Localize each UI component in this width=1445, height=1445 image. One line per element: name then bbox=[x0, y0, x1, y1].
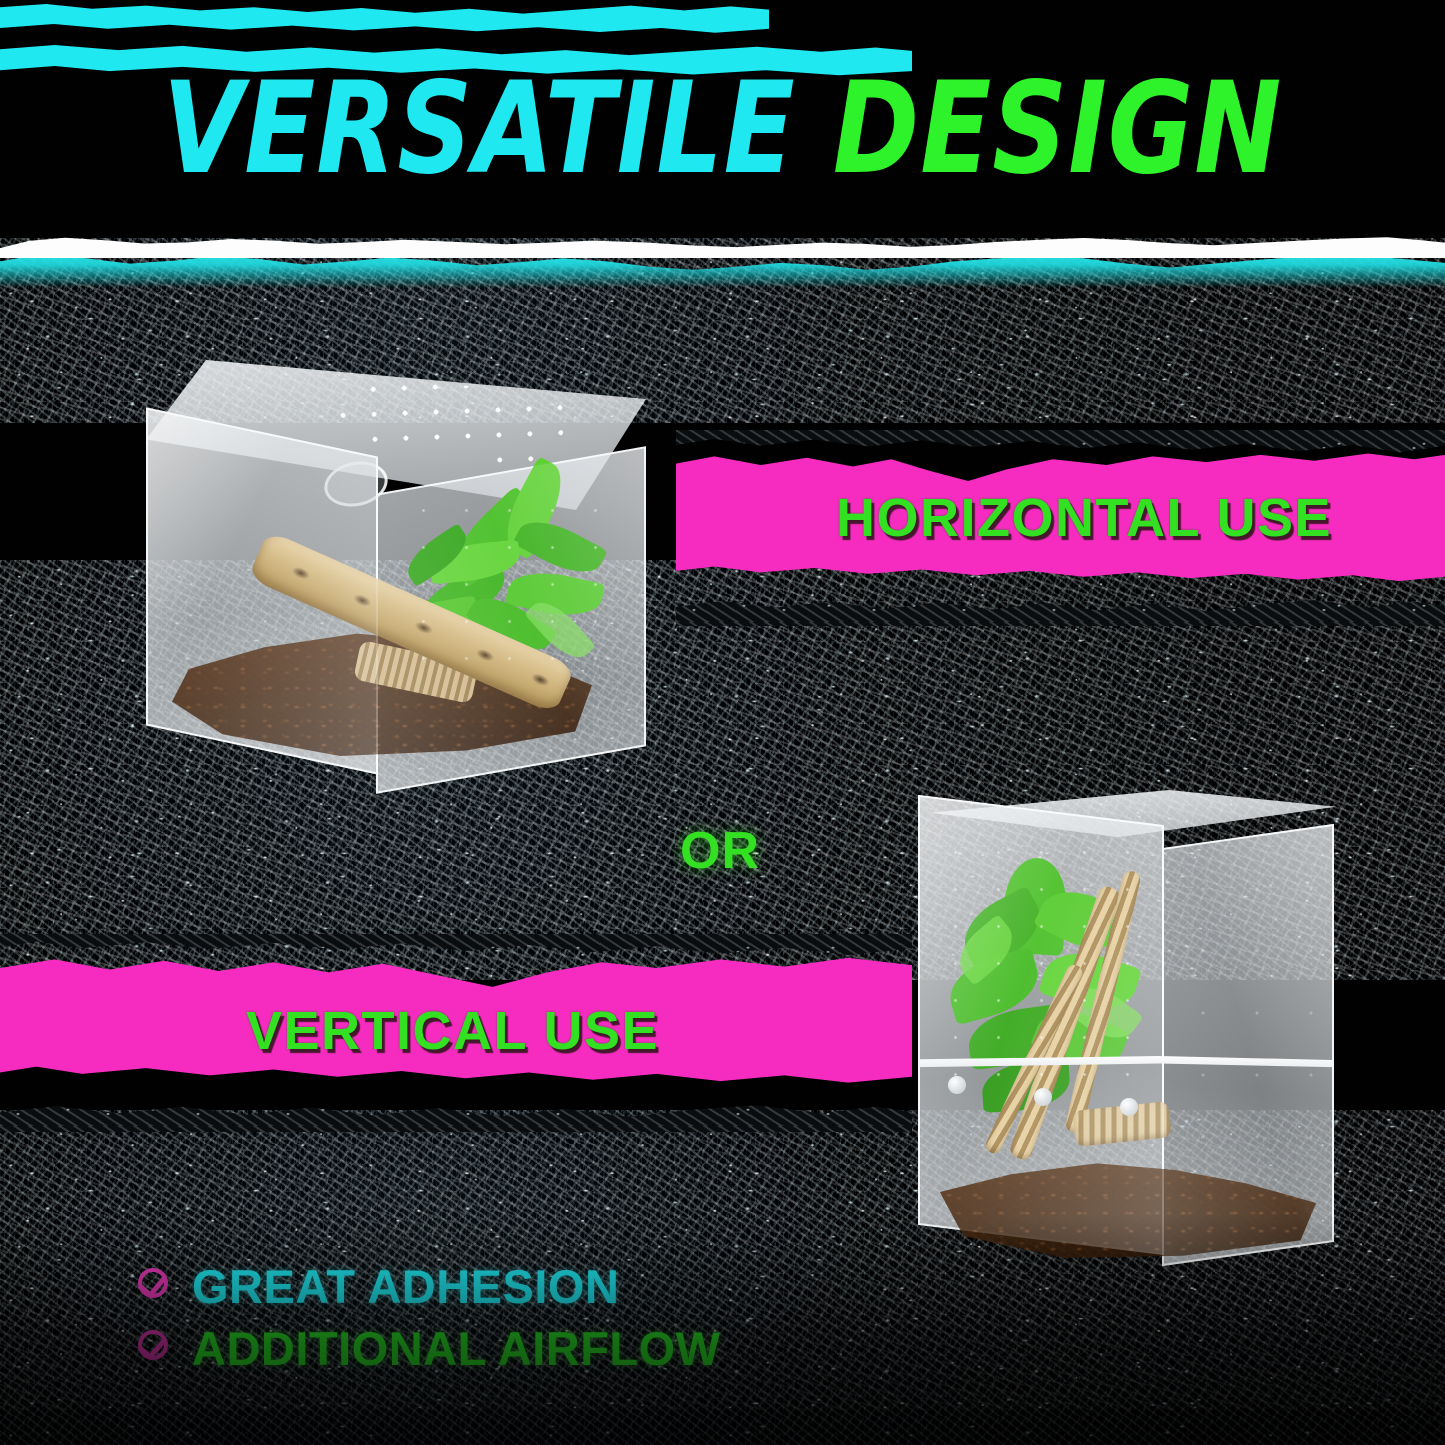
feature-list: GREAT ADHESION ADDITIONAL AIRFLOW bbox=[138, 1255, 721, 1379]
acrylic-terrarium-vertical bbox=[908, 788, 1346, 1280]
page-title-part-one: VERSATILE bbox=[163, 53, 796, 202]
marketing-image-canvas: VERSATILE DESIGN HORIZONTAL USE OR VERTI… bbox=[0, 0, 1445, 1445]
feature-item-great-adhesion: GREAT ADHESION bbox=[138, 1255, 721, 1317]
feature-item-additional-airflow: ADDITIONAL AIRFLOW bbox=[138, 1317, 721, 1379]
horizontal-use-label: HORIZONTAL USE bbox=[836, 487, 1332, 549]
feature-label-additional-airflow: ADDITIONAL AIRFLOW bbox=[192, 1321, 721, 1376]
acrylic-terrarium-horizontal bbox=[138, 352, 678, 814]
horizontal-use-band-cyan-edge bbox=[0, 0, 769, 40]
divider-knob-right bbox=[1120, 1098, 1138, 1116]
vertical-use-label: VERTICAL USE bbox=[246, 1000, 659, 1062]
divider-knob-left bbox=[948, 1076, 966, 1094]
divider-knob-middle bbox=[1034, 1088, 1052, 1106]
check-circle-icon bbox=[138, 1268, 174, 1304]
or-connector-label: OR bbox=[680, 821, 760, 881]
page-title: VERSATILE DESIGN bbox=[0, 62, 1445, 195]
feature-label-great-adhesion: GREAT ADHESION bbox=[192, 1259, 619, 1314]
page-title-part-two: DESIGN bbox=[833, 53, 1282, 202]
check-circle-icon bbox=[138, 1330, 174, 1366]
